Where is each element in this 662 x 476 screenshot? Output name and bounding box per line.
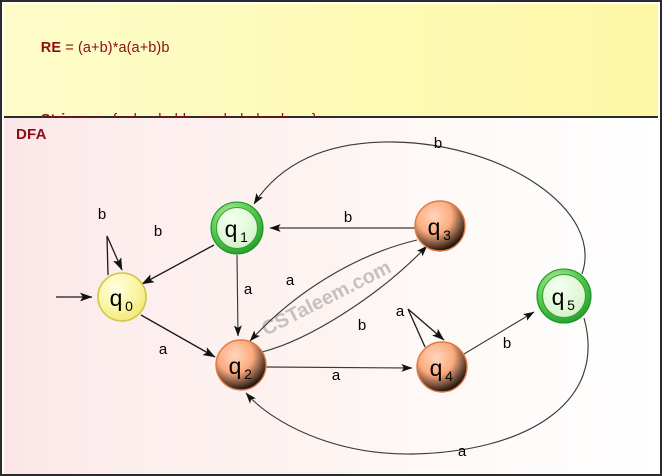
edge-q4-q4-a — [408, 309, 444, 347]
edge-label-q3-q1-b: b — [344, 209, 352, 226]
state-node-q0[interactable]: q 0 — [98, 273, 146, 321]
state-label-q0: q — [110, 285, 123, 311]
state-subscript-q2: 2 — [244, 366, 252, 382]
edge-label-q4-q4-a: a — [396, 303, 405, 320]
state-label-q5: q — [552, 284, 565, 310]
state-subscript-q1: 1 — [240, 229, 248, 245]
edge-q1-q0-b — [142, 245, 214, 284]
regex-description-panel: RE = (a+b)*a(a+b)b Strings = {aab, ababb… — [4, 4, 658, 118]
edge-q0-q2-a — [141, 315, 215, 357]
re-expression: = (a+b)*a(a+b)b — [61, 40, 169, 56]
watermark-text: CSTaleem.com — [258, 256, 394, 340]
edge-q1-q2-a — [237, 255, 238, 336]
state-subscript-q4: 4 — [445, 368, 453, 384]
state-node-q3[interactable]: q 3 — [415, 201, 465, 251]
re-line: RE = (a+b)*a(a+b)b — [16, 12, 658, 84]
state-subscript-q0: 0 — [125, 298, 133, 314]
edge-q0-q0-b — [107, 236, 122, 275]
edge-q5-q2-a — [246, 318, 588, 454]
edge-label-q5-q2-a: a — [458, 443, 467, 460]
state-label-q2: q — [229, 353, 242, 379]
state-label-q1: q — [225, 216, 238, 242]
slide-canvas: RE = (a+b)*a(a+b)b Strings = {aab, ababb… — [0, 0, 662, 476]
state-subscript-q5: 5 — [567, 297, 575, 313]
state-subscript-q3: 3 — [443, 227, 451, 243]
edge-label-q4-q5-b: b — [503, 335, 511, 352]
state-node-q1[interactable]: q 1 — [211, 202, 263, 254]
dfa-state-graph: CSTaleem.com b b a a b a b — [4, 118, 658, 474]
re-keyword: RE — [41, 40, 61, 56]
state-node-q5[interactable]: q 5 — [537, 269, 591, 323]
edge-label-q1-q0-b: b — [154, 223, 162, 240]
edge-label-q5-q1-b: b — [434, 135, 442, 152]
state-node-q4[interactable]: q 4 — [417, 342, 467, 392]
dfa-diagram-panel: DFA — [4, 118, 658, 474]
state-label-q3: q — [428, 214, 441, 240]
edge-label-q2-q3-b: b — [358, 317, 366, 334]
edge-label-q1-q2-a: a — [244, 281, 253, 298]
state-node-q2[interactable]: q 2 — [216, 340, 266, 390]
edge-q4-q5-b — [464, 312, 534, 354]
edge-label-q0-q0-b: b — [98, 206, 106, 223]
edge-label-q2-q4-a: a — [332, 367, 341, 384]
state-label-q4: q — [430, 355, 443, 381]
edge-label-q3-q2-a: a — [286, 272, 295, 289]
edge-label-q0-q2-a: a — [159, 341, 168, 358]
